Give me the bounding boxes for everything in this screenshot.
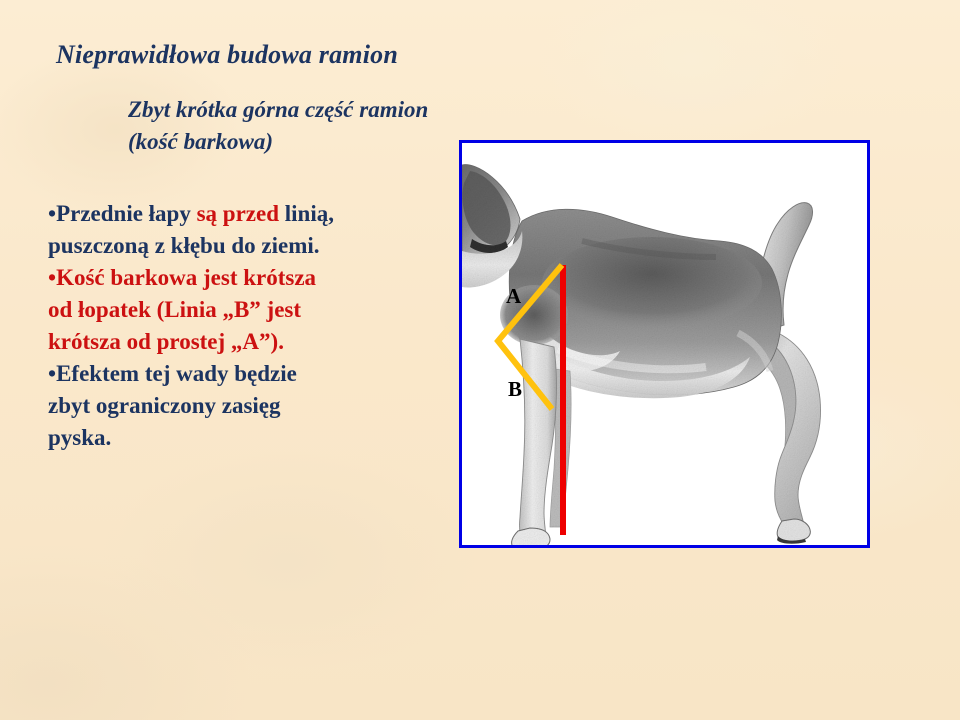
slide-canvas: Nieprawidłowa budowa ramion Zbyt krótka … — [0, 0, 960, 720]
label-a: A — [506, 284, 522, 308]
page-title: Nieprawidłowa budowa ramion — [56, 40, 398, 70]
bullet-text-segment: Kość barkowa jest krótsza — [56, 265, 316, 290]
bullet-line: •Efektem tej wady będzie — [48, 358, 418, 390]
figure-frame: A B — [459, 140, 870, 548]
bullet-line: od łopatek (Linia „B” jest — [48, 294, 418, 326]
bullet-line: •Przednie łapy są przed linią, — [48, 198, 418, 230]
bullet-text-segment: pyska. — [48, 425, 111, 450]
bullet-line: puszczoną z kłębu do ziemi. — [48, 230, 418, 262]
bullet-marker: • — [48, 201, 56, 226]
bullet-text-segment: Przednie łapy — [56, 201, 197, 226]
label-b: B — [508, 377, 522, 401]
bullet-line: zbyt ograniczony zasięg — [48, 390, 418, 422]
bullet-line: pyska. — [48, 422, 418, 454]
dog-rear-paw — [777, 519, 810, 541]
bullet-list: •Przednie łapy są przed linią,puszczoną … — [48, 198, 418, 454]
bullet-text-segment: od łopatek (Linia „B” jest — [48, 297, 301, 322]
bullet-text-segment: są przed — [197, 201, 285, 226]
bullet-text-segment: krótsza od prostej „A”). — [48, 329, 284, 354]
page-subtitle: Zbyt krótka górna część ramion (kość bar… — [128, 94, 458, 158]
bullet-text-segment: zbyt ograniczony zasięg — [48, 393, 281, 418]
bullet-text-segment: Efektem tej wady będzie — [56, 361, 297, 386]
bullet-line: •Kość barkowa jest krótsza — [48, 262, 418, 294]
bullet-line: krótsza od prostej „A”). — [48, 326, 418, 358]
bullet-marker: • — [48, 265, 56, 290]
dog-conformation-illustration: A B — [462, 143, 867, 545]
bullet-marker: • — [48, 361, 56, 386]
bullet-text-segment: puszczoną z kłębu do ziemi. — [48, 233, 320, 258]
bullet-text-segment: linią, — [285, 201, 334, 226]
